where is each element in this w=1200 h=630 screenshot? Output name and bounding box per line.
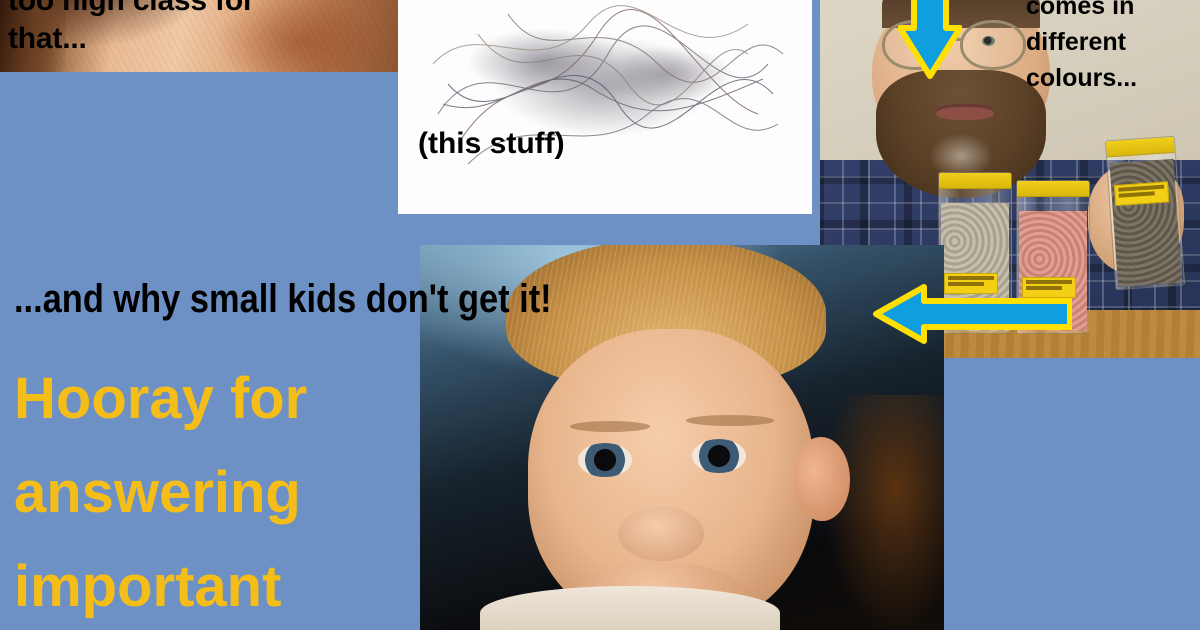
jar-lid — [938, 172, 1012, 189]
headline-line-2: answering — [14, 446, 414, 540]
jar-lid — [1016, 180, 1090, 197]
jar-contents — [1109, 159, 1181, 287]
baby-brow-right — [686, 415, 774, 426]
arrow-left-icon — [872, 282, 1072, 346]
caption-man: comes in different colours... — [1026, 0, 1196, 96]
belly-button-fluff-photo — [398, 0, 812, 214]
headline-line-3: important — [14, 540, 414, 630]
headline-text: Hooray for answering important — [14, 352, 414, 630]
headline-line-1: Hooray for — [14, 352, 414, 446]
jar-label — [1114, 181, 1169, 206]
eyeglass-right — [960, 20, 1026, 70]
background-blur — [824, 395, 944, 630]
baby-brow-left — [570, 421, 650, 432]
baby-nose — [618, 507, 704, 561]
baby-ear — [794, 437, 850, 521]
man-mouth — [936, 104, 994, 120]
caption-skin: too high class for that... — [8, 0, 338, 58]
man-eye-right — [982, 36, 995, 46]
baby-eye-right — [692, 439, 746, 473]
baby-eye-left — [578, 443, 632, 477]
specimen-jar-dark — [1105, 136, 1185, 291]
jar-lid — [1105, 136, 1176, 158]
caption-lint: (this stuff) — [418, 126, 565, 162]
arrow-down-icon — [898, 0, 962, 80]
slide-canvas: too high class for that... (this stuff) — [0, 0, 1200, 630]
caption-kids: ...and why small kids don't get it! — [14, 277, 552, 321]
